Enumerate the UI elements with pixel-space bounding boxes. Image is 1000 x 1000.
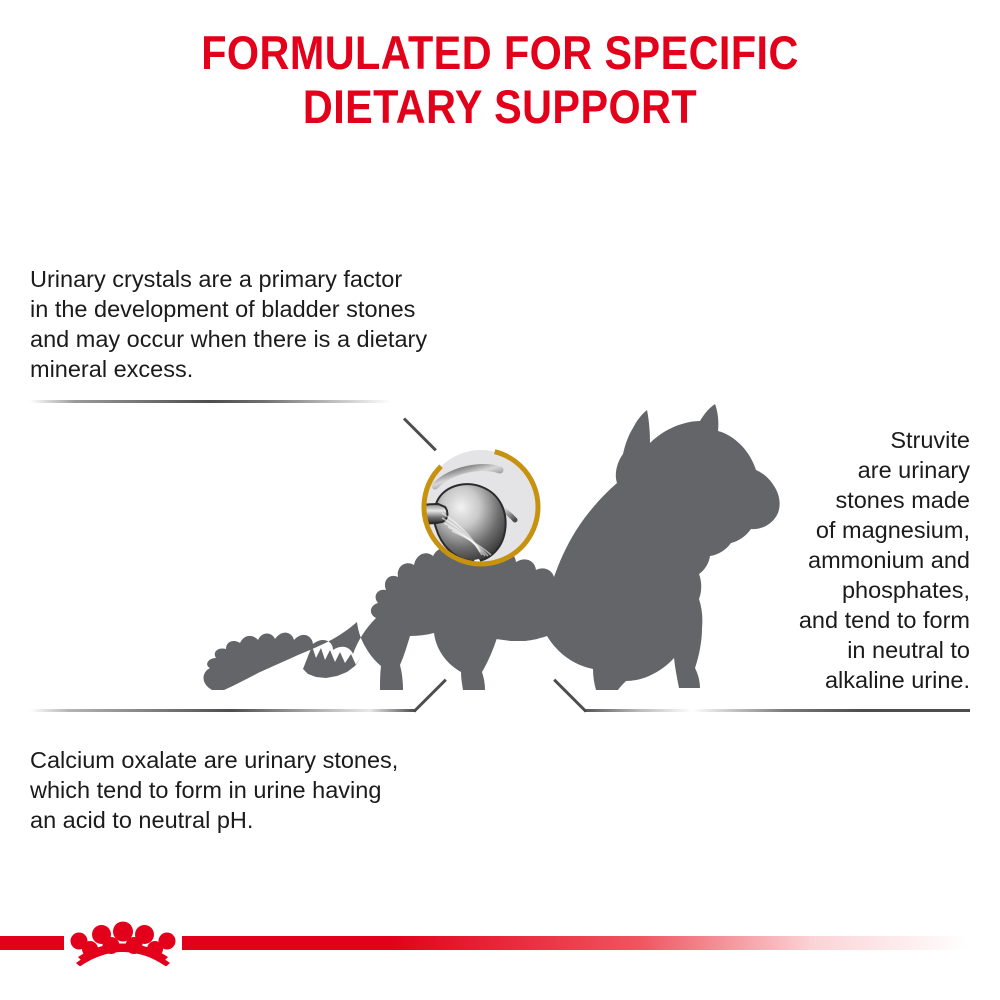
- connector-line-bottom-right: [584, 709, 970, 712]
- footer-brand-bar: [0, 920, 1000, 966]
- footer-bar-left: [0, 936, 64, 950]
- page-title: FORMULATED FOR SPECIFIC DIETARY SUPPORT: [0, 26, 1000, 134]
- cat-illustration: [190, 400, 810, 700]
- callout-text-bottom-left: Calcium oxalate are urinary stones, whic…: [30, 745, 510, 835]
- footer-bar-right: [182, 936, 970, 950]
- title-line-1: FORMULATED FOR SPECIFIC: [60, 26, 940, 80]
- connector-line-bottom-left: [30, 709, 416, 712]
- crown-icon: [62, 920, 184, 966]
- title-line-2: DIETARY SUPPORT: [60, 80, 940, 134]
- callout-text-top-left: Urinary crystals are a primary factor in…: [30, 264, 510, 384]
